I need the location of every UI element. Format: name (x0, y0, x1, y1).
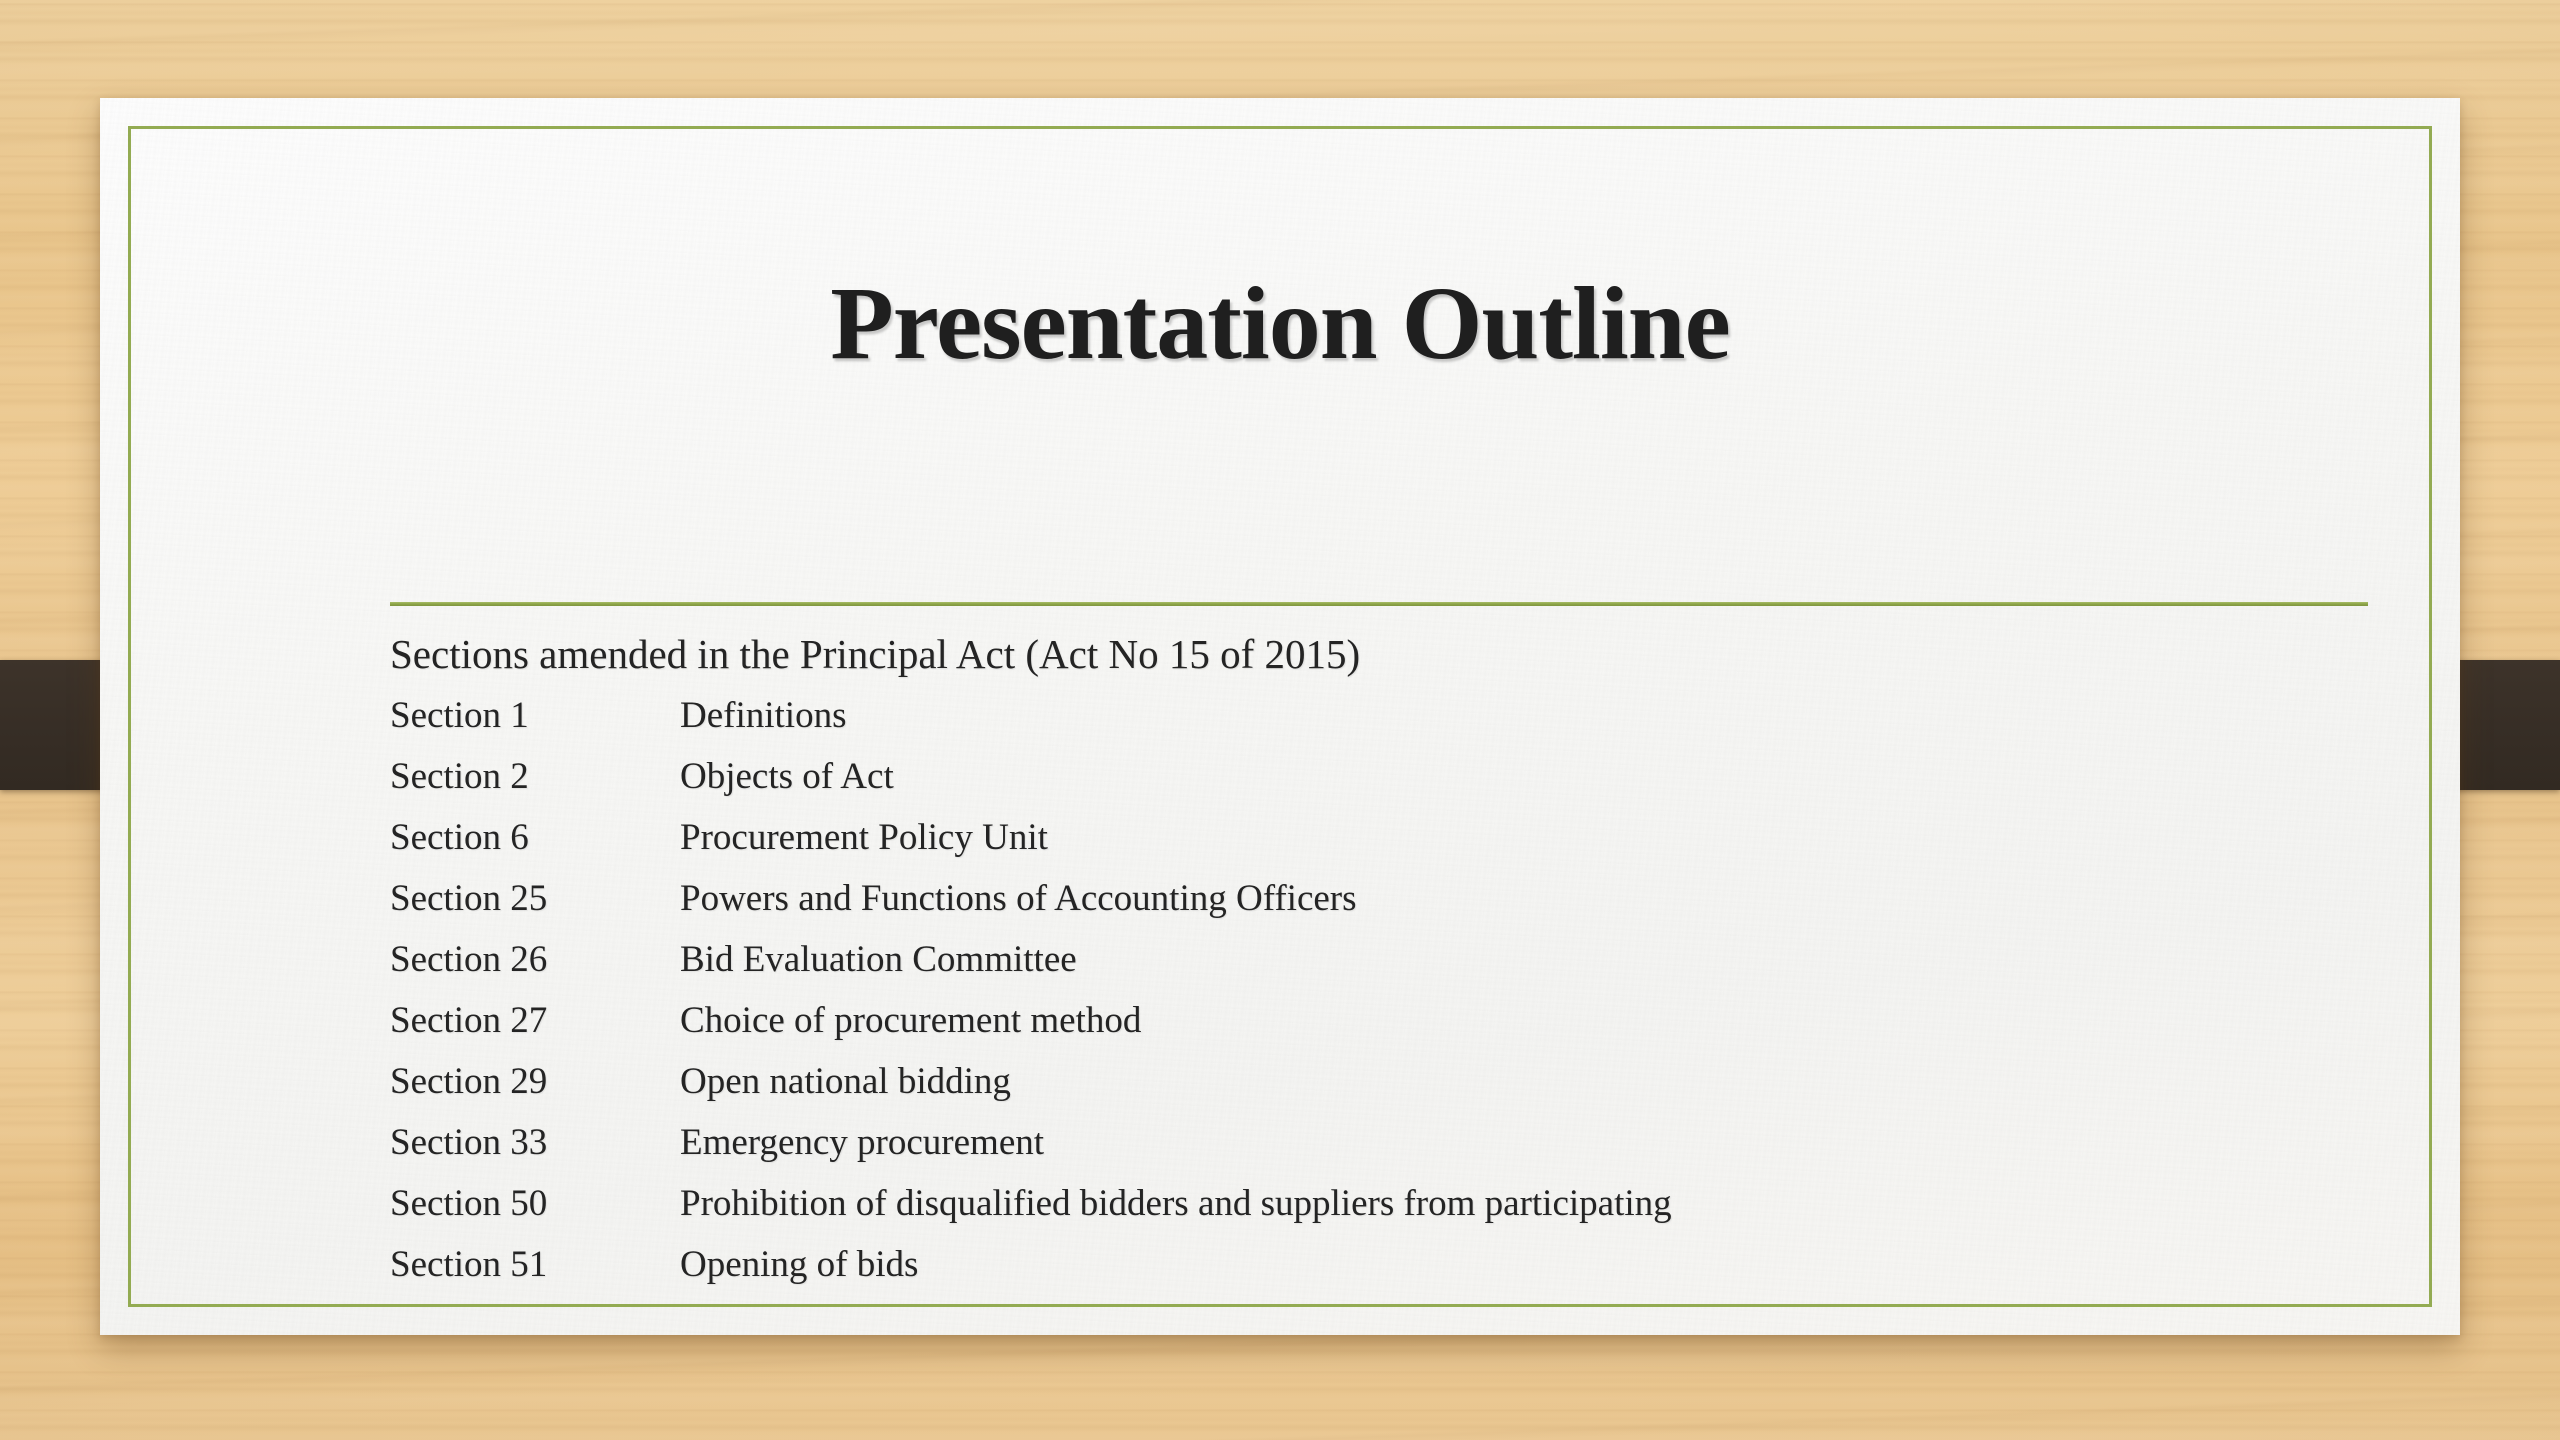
section-label: Section 26 (390, 941, 680, 978)
section-label: Section 51 (390, 1246, 680, 1283)
section-list: Section 1 Definitions Section 2 Objects … (390, 697, 2460, 1307)
section-label: Section 6 (390, 819, 680, 856)
list-item: Section 25 Powers and Functions of Accou… (390, 880, 2460, 941)
slide-stage: Presentation Outline Sections amended in… (0, 0, 2560, 1440)
section-description: Emergency procurement (680, 1124, 1044, 1161)
section-label: Section 50 (390, 1185, 680, 1222)
section-label: Section 29 (390, 1063, 680, 1100)
section-description: Definitions (680, 697, 846, 734)
slide-card: Presentation Outline Sections amended in… (100, 98, 2460, 1335)
list-item: Section 26 Bid Evaluation Committee (390, 941, 2460, 1002)
title-divider-rule (390, 602, 2368, 606)
body-heading: Sections amended in the Principal Act (A… (390, 634, 2460, 675)
section-label: Section 2 (390, 758, 680, 795)
section-description: Procurement Policy Unit (680, 819, 1048, 856)
list-item: Section 27 Choice of procurement method (390, 1002, 2460, 1063)
section-description: Bid Evaluation Committee (680, 941, 1077, 978)
section-description: Opening of bids (680, 1246, 918, 1283)
list-item: Section 51 Opening of bids (390, 1246, 2460, 1307)
section-description: Prohibition of disqualified bidders and … (680, 1185, 1672, 1222)
section-label: Section 33 (390, 1124, 680, 1161)
list-item: Section 1 Definitions (390, 697, 2460, 758)
slide-body: Sections amended in the Principal Act (A… (390, 634, 2460, 1307)
section-description: Powers and Functions of Accounting Offic… (680, 880, 1357, 917)
section-description: Objects of Act (680, 758, 894, 795)
list-item: Section 6 Procurement Policy Unit (390, 819, 2460, 880)
section-label: Section 25 (390, 880, 680, 917)
section-description: Open national bidding (680, 1063, 1011, 1100)
page-title: Presentation Outline (280, 266, 2280, 382)
section-label: Section 1 (390, 697, 680, 734)
list-item: Section 50 Prohibition of disqualified b… (390, 1185, 2460, 1246)
section-label: Section 27 (390, 1002, 680, 1039)
section-description: Choice of procurement method (680, 1002, 1141, 1039)
list-item: Section 29 Open national bidding (390, 1063, 2460, 1124)
list-item: Section 33 Emergency procurement (390, 1124, 2460, 1185)
list-item: Section 2 Objects of Act (390, 758, 2460, 819)
